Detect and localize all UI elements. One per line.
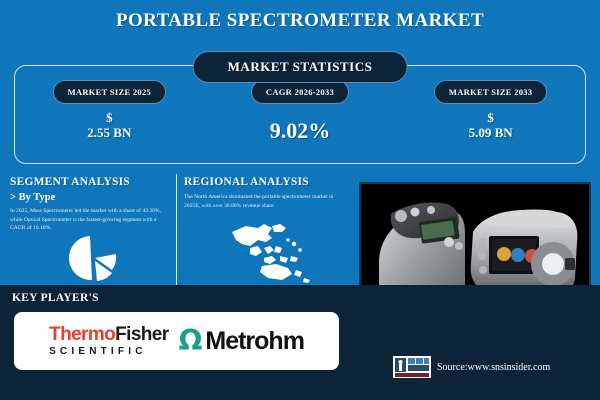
segment-analysis-block: SEGMENT ANALYSIS > By Type In 2025, Mass… — [10, 176, 170, 233]
key-players-logo-card: ThermoFisher SCIENTIFIC Ω Metrohm — [14, 312, 339, 370]
stat-market-size-2033: MARKET SIZE 2033 $ 5.09 BN — [401, 80, 581, 141]
key-players-heading: KEY PLAYER'S — [12, 292, 99, 304]
section-divider — [176, 174, 177, 285]
stat-value-market-size-2033: $ 5.09 BN — [401, 111, 581, 141]
regional-analysis-heading: REGIONAL ANALYSIS — [184, 176, 349, 188]
currency-symbol: $ — [401, 111, 581, 126]
currency-symbol: $ — [19, 111, 199, 126]
thermo-fisher-wordmark: ThermoFisher — [49, 325, 169, 344]
amount-value: 2.55 BN — [19, 126, 199, 141]
source-label: Source:www.snsinsider.com — [437, 362, 550, 373]
source-attribution: Source:www.snsinsider.com — [393, 356, 550, 378]
stat-value-cagr: 9.02% — [210, 118, 390, 143]
regional-analysis-body: The North America dominated the portable… — [184, 193, 349, 210]
sns-insider-logo-icon — [393, 356, 431, 378]
thermo-text: Thermo — [49, 324, 115, 345]
market-statistics-label: MARKET STATISTICS — [193, 51, 408, 83]
fisher-text: Fisher — [115, 324, 168, 345]
pie-chart-icon — [62, 232, 120, 284]
metrohm-logo: Ω Metrohm — [179, 327, 304, 356]
market-statistics-row: MARKET SIZE 2025 $ 2.55 BN CAGR 2026-203… — [14, 80, 586, 143]
stat-badge-market-size-2025: MARKET SIZE 2025 — [53, 80, 167, 104]
stat-cagr: CAGR 2026-2033 9.02% — [210, 80, 390, 143]
omega-icon: Ω — [179, 329, 203, 353]
amount-value: 5.09 BN — [401, 126, 581, 141]
page-title: PORTABLE SPECTROMETER MARKET — [0, 10, 600, 32]
stat-market-size-2025: MARKET SIZE 2025 $ 2.55 BN — [19, 80, 199, 141]
thermo-fisher-logo: ThermoFisher SCIENTIFIC — [49, 325, 169, 357]
world-map-icon — [206, 220, 326, 284]
regional-analysis-block: REGIONAL ANALYSIS The North America domi… — [184, 176, 349, 210]
stat-value-market-size-2025: $ 2.55 BN — [19, 111, 199, 141]
metrohm-wordmark: Metrohm — [205, 327, 304, 356]
infographic-root: PORTABLE SPECTROMETER MARKET MARKET STAT… — [0, 0, 600, 400]
segment-analysis-heading: SEGMENT ANALYSIS — [10, 176, 170, 188]
scientific-text: SCIENTIFIC — [49, 347, 169, 357]
segment-analysis-body: In 2025, Mass Spectrometer led the marke… — [10, 207, 170, 233]
segment-analysis-subheading: > By Type — [10, 192, 170, 203]
stat-badge-cagr: CAGR 2026-2033 — [251, 80, 349, 104]
stat-badge-market-size-2033: MARKET SIZE 2033 — [434, 80, 548, 104]
